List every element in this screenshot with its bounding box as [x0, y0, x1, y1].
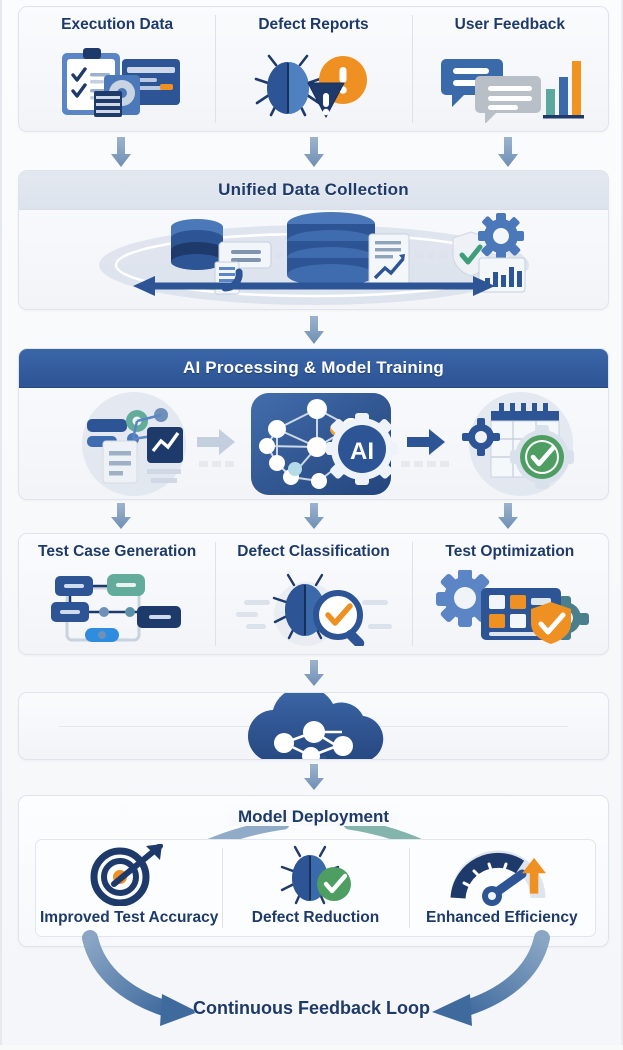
- deployment-benefits-panel: Improved Test Accuracy: [35, 839, 596, 937]
- benefit-column-defect-reduction[interactable]: Defect Reduction: [222, 840, 408, 936]
- input-column-defect-reports[interactable]: Defect Reports: [215, 7, 411, 131]
- ai-gear-badge: AI: [326, 413, 398, 485]
- flow-arrow-down-5: [302, 764, 326, 792]
- gear-icon: [478, 213, 524, 259]
- dashed-connector-right: [415, 252, 447, 259]
- output-column-defect-classification[interactable]: Defect Classification: [215, 534, 411, 654]
- dashed-flow-right: [401, 461, 449, 467]
- stage-inputs-card: Execution Data: [18, 6, 609, 132]
- chat-bubbles-chart-icon: [412, 34, 608, 131]
- unified-data-collection-body: [19, 210, 608, 310]
- stage-outputs-card: Test Case Generation Defect Class: [18, 533, 609, 655]
- bug-magnifier-icon: [215, 561, 411, 654]
- benefit-label-defect-reduction: Defect Reduction: [252, 909, 379, 927]
- clipboard-checklist-icon: [19, 34, 215, 131]
- gauge-up-arrow-icon: [409, 840, 595, 909]
- dashed-flow-left: [199, 461, 234, 467]
- benefit-label-improved-test-accuracy: Improved Test Accuracy: [40, 909, 218, 927]
- flow-arrow-down-4: [302, 660, 326, 688]
- ai-badge-label: AI: [350, 438, 374, 465]
- continuous-feedback-loop-label-wrap: Continuous Feedback Loop: [2, 998, 621, 1019]
- benefit-column-improved-test-accuracy[interactable]: Improved Test Accuracy: [36, 840, 222, 936]
- ai-processing-title: AI Processing & Model Training: [183, 358, 444, 378]
- target-arrow-icon: [36, 840, 222, 909]
- flow-arrow-down-3a: [109, 503, 133, 531]
- output-column-test-optimization[interactable]: Test Optimization: [412, 534, 608, 654]
- stage-unified-data-collection-card: Unified Data Collection: [18, 170, 609, 310]
- flow-arrow-down-1a: [109, 137, 133, 169]
- diagram-canvas: Execution Data: [0, 0, 623, 1045]
- input-label-execution-data: Execution Data: [61, 16, 173, 34]
- stage-cloud-card: [18, 692, 609, 760]
- document-trend-icon: [369, 234, 409, 286]
- input-label-defect-reports: Defect Reports: [258, 16, 368, 34]
- database-cylinder-icon: [287, 212, 375, 286]
- flow-arrow-down-1c: [496, 137, 520, 169]
- flowchart-icon: [19, 561, 215, 654]
- bug-alert-icon: [215, 34, 411, 131]
- unified-data-collection-header: Unified Data Collection: [19, 171, 608, 210]
- cloud-network-icon: [229, 692, 399, 760]
- continuous-feedback-loop-label: Continuous Feedback Loop: [193, 998, 430, 1018]
- flow-arrow-down-3c: [496, 503, 520, 531]
- input-column-user-feedback[interactable]: User Feedback: [412, 7, 608, 131]
- bug-check-icon: [222, 840, 408, 909]
- gears-dashboard-shield-icon: [412, 561, 608, 654]
- ai-pipeline-illustration: AI: [29, 389, 599, 499]
- input-column-execution-data[interactable]: Execution Data: [19, 7, 215, 131]
- stage-model-deployment-card: Model Deployment Improved Test Accuracy: [18, 795, 609, 947]
- input-label-user-feedback: User Feedback: [455, 16, 565, 34]
- output-column-test-case-generation[interactable]: Test Case Generation: [19, 534, 215, 654]
- unified-data-collection-title: Unified Data Collection: [218, 180, 409, 200]
- ai-processing-header: AI Processing & Model Training: [19, 349, 608, 388]
- output-label-test-case-generation: Test Case Generation: [38, 543, 196, 561]
- continuous-feedback-loop-arrows: [2, 930, 623, 1050]
- output-label-defect-classification: Defect Classification: [237, 543, 389, 561]
- flow-arrow-down-1b: [302, 137, 326, 169]
- neural-network-ai-icon: AI: [251, 393, 398, 495]
- benefit-column-enhanced-efficiency[interactable]: Enhanced Efficiency: [409, 840, 595, 936]
- cloud-body: [19, 693, 608, 759]
- benefit-label-enhanced-efficiency: Enhanced Efficiency: [426, 909, 578, 927]
- stage-ai-processing-card: AI Processing & Model Training: [18, 348, 609, 500]
- output-label-test-optimization: Test Optimization: [445, 543, 574, 561]
- data-collection-illustration: [79, 210, 549, 310]
- flow-arrow-down-2: [302, 316, 326, 346]
- ai-processing-body: AI: [19, 388, 608, 500]
- flow-arrow-down-3b: [302, 503, 326, 531]
